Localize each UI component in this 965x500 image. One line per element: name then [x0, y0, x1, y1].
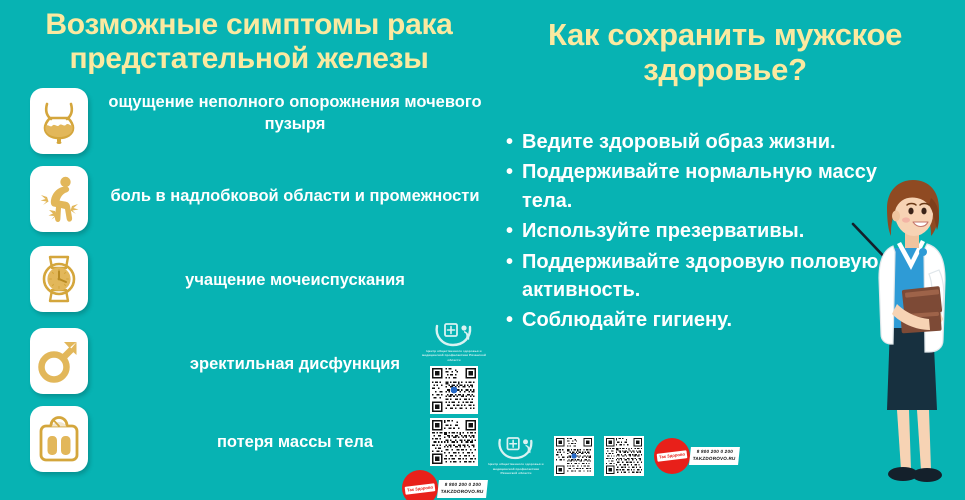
health-center-logo [418, 322, 490, 348]
symptom-row: учащение мочеиспускания [0, 246, 500, 320]
qr-code[interactable] [430, 418, 478, 466]
hotline-plate: 8 800 200 0 200 TAKZDOROVO.RU [689, 447, 740, 465]
qr-code[interactable] [430, 366, 478, 414]
branding-cluster: Центр общественного здоровья и медицинск… [418, 322, 490, 500]
infographic-poster: Возможные симптомы рака предстательной ж… [0, 0, 965, 500]
hotline-site: TAKZDOROVO.RU [440, 488, 484, 495]
hotline-number: 8 800 200 0 200 [693, 449, 737, 456]
bladder-icon [39, 98, 79, 144]
advice-label: Используйте презервативы. [522, 220, 804, 242]
bullet-icon: • [506, 306, 513, 334]
hotline-plate: 8 800 200 0 200 TAKZDOROVO.RU [437, 480, 488, 498]
symptom-label: ощущение неполного опорожнения мочевого … [100, 92, 490, 136]
weight-scale-icon [37, 416, 81, 462]
org-logo-block: Центр общественного здоровья и медицинск… [488, 436, 544, 475]
hotline-number: 8 800 200 0 200 [441, 482, 485, 489]
advice-label: Соблюдайте гигиену. [522, 309, 732, 331]
female-doctor-illustration [835, 178, 965, 500]
symptom-icon-tile [30, 88, 88, 154]
org-caption: Центр общественного здоровья и медицинск… [488, 462, 544, 475]
symptom-icon-tile [30, 406, 88, 472]
hotline-site: TAKZDOROVO.RU [692, 456, 736, 463]
left-panel-title: Возможные симптомы рака предстательной ж… [4, 8, 494, 75]
wristwatch-icon [37, 255, 81, 303]
qr-code[interactable] [554, 436, 594, 476]
bullet-icon: • [506, 158, 513, 186]
hotline-badge-row: Так Здорово 8 800 200 0 200 TAKZDOROVO.R… [402, 470, 490, 500]
symptom-label: учащение мочеиспускания [100, 270, 490, 292]
bullet-icon: • [506, 217, 513, 245]
symptom-label: боль в надлобковой области и промежности [100, 186, 490, 208]
advice-item: • Ведите здоровый образ жизни. [505, 128, 905, 156]
symptom-icon-tile [30, 246, 88, 312]
symptom-icon-tile [30, 166, 88, 232]
badge-label: Так Здорово [657, 450, 688, 461]
health-center-logo [488, 436, 544, 461]
right-panel-title: Как сохранить мужское здоровье? [505, 18, 945, 87]
qr-code[interactable] [604, 436, 644, 476]
bullet-icon: • [506, 248, 513, 276]
takzdorovo-badge: Так Здорово [402, 470, 438, 500]
hotline-badge-row: Так Здорово 8 800 200 0 200 TAKZDOROVO.R… [654, 438, 739, 474]
bullet-icon: • [506, 128, 513, 156]
badge-label: Так Здорово [405, 483, 436, 494]
male-symbol-icon [37, 338, 81, 384]
symptom-row: ощущение неполного опорожнения мочевого … [0, 88, 500, 162]
back-pain-icon [38, 175, 80, 223]
takzdorovo-badge: Так Здорово [654, 438, 690, 474]
branding-cluster: Центр общественного здоровья и медицинск… [488, 428, 758, 484]
advice-label: Поддерживайте здоровую половую активност… [522, 251, 879, 301]
advice-label: Поддерживайте нормальную массу тела. [522, 161, 877, 211]
advice-label: Ведите здоровый образ жизни. [522, 131, 836, 153]
symptom-row: боль в надлобковой области и промежности [0, 166, 500, 240]
symptom-icon-tile [30, 328, 88, 394]
org-caption: Центр общественного здоровья и медицинск… [418, 349, 490, 362]
